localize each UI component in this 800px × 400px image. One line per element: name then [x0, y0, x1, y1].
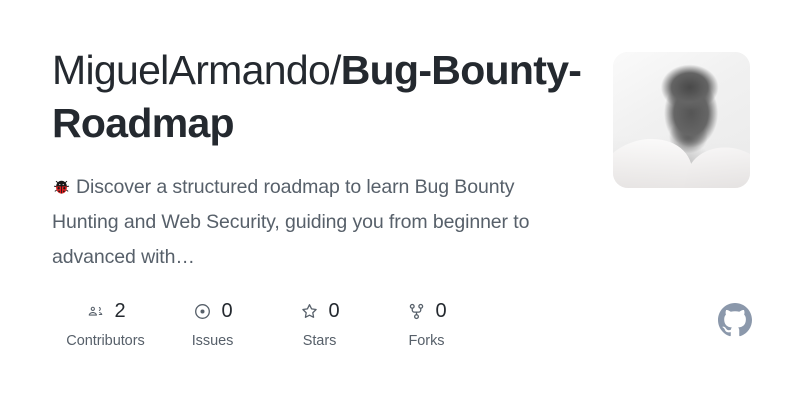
repository-description: Discover a structured roadmap to learn B… [52, 170, 580, 275]
avatar [613, 52, 750, 188]
stat-forks-label: Forks [408, 333, 444, 349]
star-icon [299, 301, 319, 321]
stat-contributors-value: 2 [114, 301, 125, 321]
repository-owner: MiguelArmando [52, 47, 330, 93]
stat-contributors-label: Contributors [66, 333, 144, 349]
ladybug-icon [52, 173, 71, 191]
stat-contributors-top: 2 [85, 298, 125, 324]
stat-issues-top: 0 [192, 298, 232, 324]
stat-forks: 0 Forks [373, 298, 480, 349]
repo-forked-icon [406, 301, 426, 321]
repository-separator: / [330, 47, 341, 93]
repository-title: MiguelArmando/Bug-Bounty-Roadmap [52, 44, 597, 150]
repository-stats: 2 Contributors 0 Issues [52, 298, 480, 349]
people-icon [85, 301, 105, 321]
stat-stars-label: Stars [303, 333, 337, 349]
repository-description-text: Discover a structured roadmap to learn B… [52, 176, 529, 268]
stat-forks-value: 0 [435, 301, 446, 321]
github-mark-icon [718, 303, 752, 337]
stat-forks-top: 0 [406, 298, 446, 324]
stat-issues: 0 Issues [159, 298, 266, 349]
stat-issues-value: 0 [221, 301, 232, 321]
stat-stars-top: 0 [299, 298, 339, 324]
issue-opened-icon [192, 301, 212, 321]
stat-contributors: 2 Contributors [52, 298, 159, 349]
stat-stars-value: 0 [328, 301, 339, 321]
stat-stars: 0 Stars [266, 298, 373, 349]
stat-issues-label: Issues [192, 333, 234, 349]
repository-social-card: MiguelArmando/Bug-Bounty-Roadmap [0, 0, 800, 400]
